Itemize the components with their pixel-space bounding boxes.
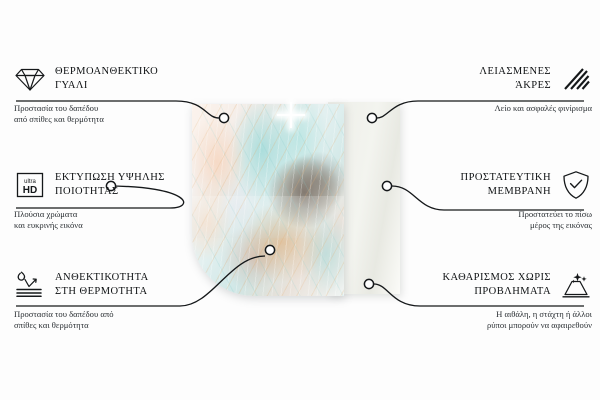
feature-description-line: Λείο και ασφαλές φινίρισμα	[392, 103, 592, 114]
feature-title: ΕΚΤΥΠΩΣΗ ΥΨΗΛΗΣ ΠΟΙΟΤΗΤΑΣ	[55, 171, 165, 199]
product-feature-infographic: ΘΕΡΜΟΑΝΘΕΚΤΙΚΟ ΓΥΑΛΙ Προστασία του δαπέδ…	[0, 0, 600, 400]
glass-sheen-overlay	[192, 104, 344, 296]
feature-description: Προστατεύει το πίσω μέρος της εικόνας	[392, 209, 592, 232]
feature-description-line: μέρος της εικόνας	[392, 220, 592, 231]
ultra-hd-icon: ultra HD	[14, 169, 46, 201]
feature-description-line: σπίθες και θερμότητα	[14, 320, 214, 331]
feature-description: Προστασία του δαπέδου από σπίθες και θερ…	[14, 309, 214, 332]
feature-title-line: ΘΕΡΜΟΑΝΘΕΚΤΙΚΟ	[55, 65, 158, 79]
diamond-icon	[14, 63, 46, 95]
feature-title-line: ΣΤΗ ΘΕΡΜΟΤΗΤΑ	[55, 285, 149, 299]
feature-description-line: Η αιθάλη, η στάχτη ή άλλοι	[392, 309, 592, 320]
shield-check-icon	[560, 169, 592, 201]
feature-description-line: Προστασία του δαπέδου από	[14, 309, 214, 320]
feature-header: ΚΑΘΑΡΙΣΜΟΣ ΧΩΡΙΣ ΠΡΟΒΛΗΜΑΤΑ	[392, 268, 592, 302]
feature-header: ΘΕΡΜΟΑΝΘΕΚΤΙΚΟ ΓΥΑΛΙ	[14, 62, 214, 96]
feature-header: ΠΡΟΣΤΑΤΕΥΤΙΚΗ ΜΕΜΒΡΑΝΗ	[392, 168, 592, 202]
feature-header: ΛΕΙΑΣΜΕΝΕΣ ΆΚΡΕΣ	[392, 62, 592, 96]
feature-header: ultra HD ΕΚΤΥΠΩΣΗ ΥΨΗΛΗΣ ΠΟΙΟΤΗΤΑΣ	[14, 168, 214, 202]
feature-description-line: ρύποι μπορούν να αφαιρεθούν	[392, 320, 592, 331]
feature-title-line: ΠΡΟΒΛΗΜΑΤΑ	[442, 285, 551, 299]
feature-high-quality-print: ultra HD ΕΚΤΥΠΩΣΗ ΥΨΗΛΗΣ ΠΟΙΟΤΗΤΑΣ Πλούσ…	[14, 168, 214, 232]
feature-heat-resistance: ΑΝΘΕΚΤΙΚΟΤΗΤΑ ΣΤΗ ΘΕΡΜΟΤΗΤΑ Προστασία το…	[14, 268, 214, 332]
feature-description-line: Πλούσια χρώματα	[14, 209, 214, 220]
feature-title-line: ΆΚΡΕΣ	[479, 79, 551, 93]
feature-title: ΑΝΘΕΚΤΙΚΟΤΗΤΑ ΣΤΗ ΘΕΡΜΟΤΗΤΑ	[55, 271, 149, 299]
feature-title-line: ΓΥΑΛΙ	[55, 79, 158, 93]
feature-description-line: από σπίθες και θερμότητα	[14, 114, 214, 125]
feature-description-line: Προστασία του δαπέδου	[14, 103, 214, 114]
feature-protective-membrane: ΠΡΟΣΤΑΤΕΥΤΙΚΗ ΜΕΜΒΡΑΝΗ Προστατεύει το πί…	[392, 168, 592, 232]
feature-easy-cleaning: ΚΑΘΑΡΙΣΜΟΣ ΧΩΡΙΣ ΠΡΟΒΛΗΜΑΤΑ Η αιθάλη, η …	[392, 268, 592, 332]
feature-description: Λείο και ασφαλές φινίρισμα	[392, 103, 592, 114]
heat-resistance-icon	[14, 269, 46, 301]
feature-title: ΠΡΟΣΤΑΤΕΥΤΙΚΗ ΜΕΜΒΡΑΝΗ	[461, 171, 551, 199]
polished-edges-icon	[560, 63, 592, 95]
feature-header: ΑΝΘΕΚΤΙΚΟΤΗΤΑ ΣΤΗ ΘΕΡΜΟΤΗΤΑ	[14, 268, 214, 302]
feature-description-line: και ευκρινής εικόνα	[14, 220, 214, 231]
product-image	[180, 96, 420, 311]
feature-description: Προστασία του δαπέδου από σπίθες και θερ…	[14, 103, 214, 126]
feature-title-line: ΛΕΙΑΣΜΕΝΕΣ	[479, 65, 551, 79]
glass-panel-front-artwork	[192, 104, 344, 296]
feature-title: ΘΕΡΜΟΑΝΘΕΚΤΙΚΟ ΓΥΑΛΙ	[55, 65, 158, 93]
feature-heat-resistant-glass: ΘΕΡΜΟΑΝΘΕΚΤΙΚΟ ΓΥΑΛΙ Προστασία του δαπέδ…	[14, 62, 214, 126]
feature-title-line: ΜΕΜΒΡΑΝΗ	[461, 185, 551, 199]
easy-cleaning-icon	[560, 269, 592, 301]
feature-title-line: ΠΡΟΣΤΑΤΕΥΤΙΚΗ	[461, 171, 551, 185]
feature-title: ΚΑΘΑΡΙΣΜΟΣ ΧΩΡΙΣ ΠΡΟΒΛΗΜΑΤΑ	[442, 271, 551, 299]
feature-title: ΛΕΙΑΣΜΕΝΕΣ ΆΚΡΕΣ	[479, 65, 551, 93]
feature-description-line: Προστατεύει το πίσω	[392, 209, 592, 220]
feature-description: Πλούσια χρώματα και ευκρινής εικόνα	[14, 209, 214, 232]
svg-text:HD: HD	[23, 185, 37, 196]
feature-title-line: ΕΚΤΥΠΩΣΗ ΥΨΗΛΗΣ	[55, 171, 165, 185]
feature-description: Η αιθάλη, η στάχτη ή άλλοι ρύποι μπορούν…	[392, 309, 592, 332]
feature-title-line: ΚΑΘΑΡΙΣΜΟΣ ΧΩΡΙΣ	[442, 271, 551, 285]
feature-title-line: ΠΟΙΟΤΗΤΑΣ	[55, 185, 165, 199]
feature-polished-edges: ΛΕΙΑΣΜΕΝΕΣ ΆΚΡΕΣ Λείο και ασφαλές φινίρι…	[392, 62, 592, 114]
feature-title-line: ΑΝΘΕΚΤΙΚΟΤΗΤΑ	[55, 271, 149, 285]
